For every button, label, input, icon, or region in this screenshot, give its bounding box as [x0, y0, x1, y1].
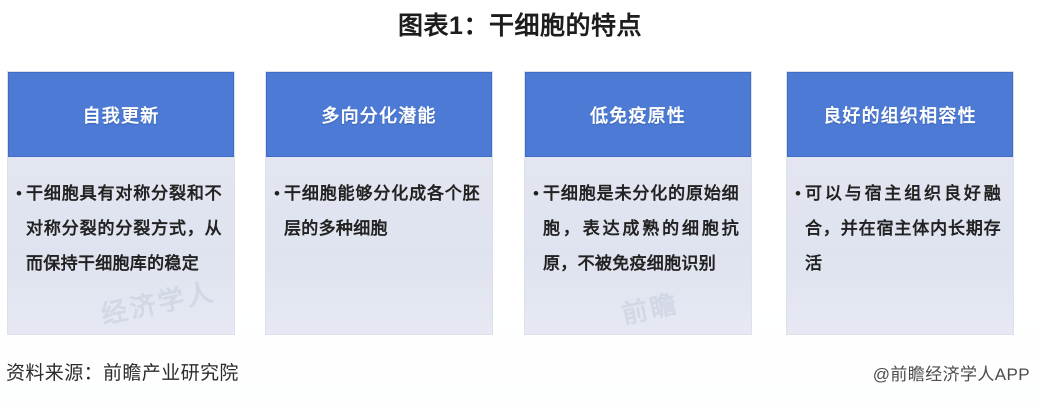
bullet-text: 干细胞是未分化的原始细胞，表达成熟的细胞抗原，不被免疫细胞识别 — [543, 176, 739, 281]
feature-card-header: 良好的组织相容性 — [787, 72, 1013, 157]
feature-card-body: • 干细胞是未分化的原始细胞，表达成熟的细胞抗原，不被免疫细胞识别 前瞻 — [525, 157, 751, 334]
bullet-item: • 干细胞具有对称分裂和不对称分裂的分裂方式，从而保持干细胞库的稳定 — [16, 176, 222, 281]
source-note: 资料来源：前瞻产业研究院 — [6, 358, 239, 385]
bullet-text: 可以与宿主组织良好融合，并在宿主体内长期存活 — [805, 176, 1001, 281]
feature-card-multipotency: 多向分化潜能 • 干细胞能够分化成各个胚层的多种细胞 — [266, 72, 492, 334]
figure-footer: 资料来源：前瞻产业研究院 @前瞻经济学人APP — [0, 352, 1040, 402]
feature-card-title: 良好的组织相容性 — [823, 102, 977, 128]
feature-card-body: • 可以与宿主组织良好融合，并在宿主体内长期存活 — [787, 157, 1013, 334]
bullet-dot-icon: • — [274, 176, 284, 211]
feature-card-title: 多向分化潜能 — [321, 102, 436, 128]
feature-card-low-immunogenicity: 低免疫原性 • 干细胞是未分化的原始细胞，表达成熟的细胞抗原，不被免疫细胞识别 … — [525, 72, 751, 334]
bullet-dot-icon: • — [533, 176, 543, 211]
feature-card-body: • 干细胞具有对称分裂和不对称分裂的分裂方式，从而保持干细胞库的稳定 经济学人 — [8, 157, 234, 334]
feature-card-histocompatibility: 良好的组织相容性 • 可以与宿主组织良好融合，并在宿主体内长期存活 — [787, 72, 1013, 334]
bullet-text: 干细胞能够分化成各个胚层的多种细胞 — [284, 176, 480, 246]
feature-card-header: 自我更新 — [8, 72, 234, 157]
bullet-dot-icon: • — [795, 176, 805, 211]
feature-card-body: • 干细胞能够分化成各个胚层的多种细胞 — [266, 157, 492, 334]
figure-title: 图表1：干细胞的特点 — [0, 6, 1040, 46]
bullet-item: • 可以与宿主组织良好融合，并在宿主体内长期存活 — [795, 176, 1001, 281]
feature-card-title: 自我更新 — [83, 102, 160, 128]
bullet-item: • 干细胞能够分化成各个胚层的多种细胞 — [274, 176, 480, 246]
feature-card-header: 低免疫原性 — [525, 72, 751, 157]
feature-card-self-renewal: 自我更新 • 干细胞具有对称分裂和不对称分裂的分裂方式，从而保持干细胞库的稳定 … — [8, 72, 234, 334]
bullet-item: • 干细胞是未分化的原始细胞，表达成熟的细胞抗原，不被免疫细胞识别 — [533, 176, 739, 281]
bullet-text: 干细胞具有对称分裂和不对称分裂的分裂方式，从而保持干细胞库的稳定 — [26, 176, 222, 281]
figure-root: 图表1：干细胞的特点 自我更新 • 干细胞具有对称分裂和不对称分裂的分裂方式，从… — [0, 0, 1040, 405]
feature-card-header: 多向分化潜能 — [266, 72, 492, 157]
bullet-dot-icon: • — [16, 176, 26, 211]
watermark-text: 前瞻 — [618, 283, 682, 331]
feature-card-row: 自我更新 • 干细胞具有对称分裂和不对称分裂的分裂方式，从而保持干细胞库的稳定 … — [8, 72, 1032, 334]
app-credit: @前瞻经济学人APP — [873, 360, 1030, 385]
feature-card-title: 低免疫原性 — [590, 102, 686, 128]
